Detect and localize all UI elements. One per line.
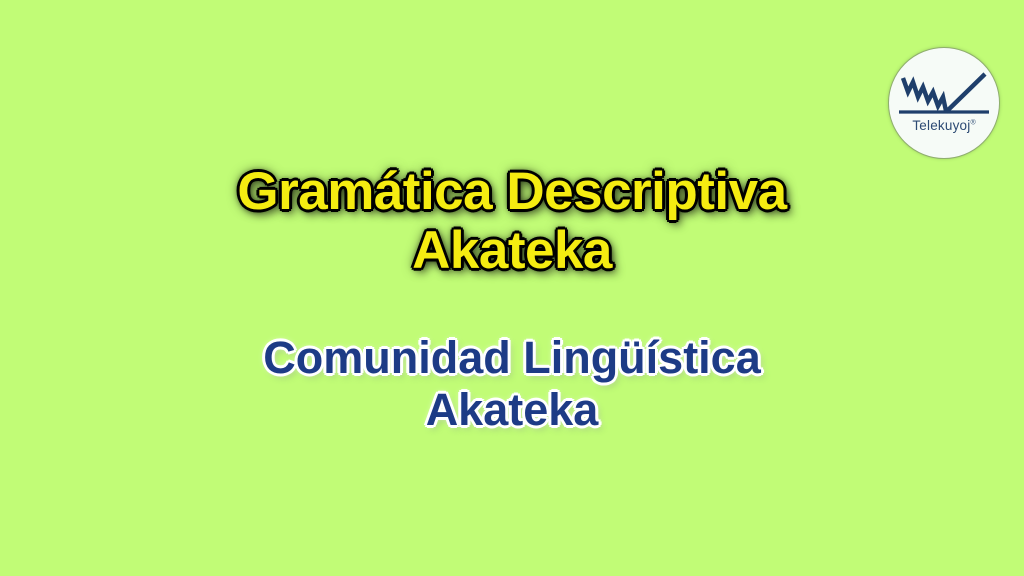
- slide-title: Gramática Descriptiva Akateka: [0, 162, 1024, 280]
- slide-subtitle: Comunidad Lingüística Akateka: [0, 332, 1024, 436]
- title-slide: Telekuyoj® Gramática Descriptiva Akateka…: [0, 0, 1024, 576]
- slide-text-block: Gramática Descriptiva Akateka Comunidad …: [0, 0, 1024, 576]
